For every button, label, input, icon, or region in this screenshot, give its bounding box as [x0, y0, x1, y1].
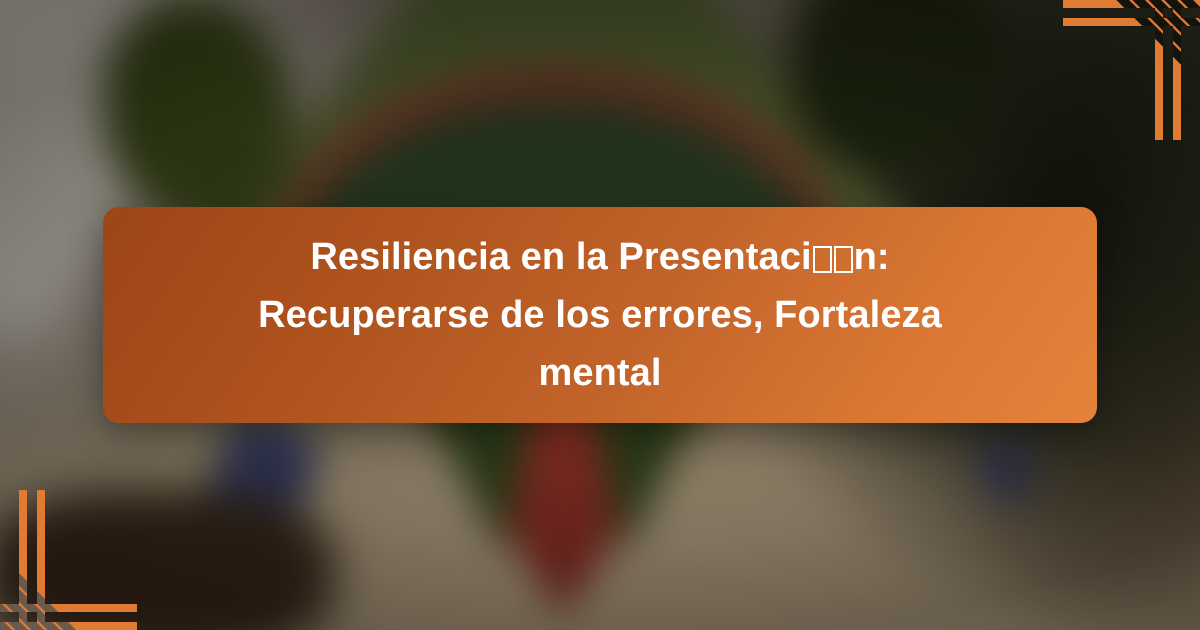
- social-share-card: Resiliencia en la Presentacin: Recuperar…: [0, 0, 1200, 630]
- title-line-two: de los errores, Fortaleza mental: [500, 294, 942, 394]
- title-segment-before-artifact: Resiliencia en la Presentaci: [310, 236, 811, 278]
- missing-glyph-box: [813, 246, 832, 273]
- missing-glyph-box: [834, 246, 853, 273]
- page-title: Resiliencia en la Presentacin: Recuperar…: [210, 228, 990, 402]
- headline-card: Resiliencia en la Presentacin: Recuperar…: [103, 207, 1097, 423]
